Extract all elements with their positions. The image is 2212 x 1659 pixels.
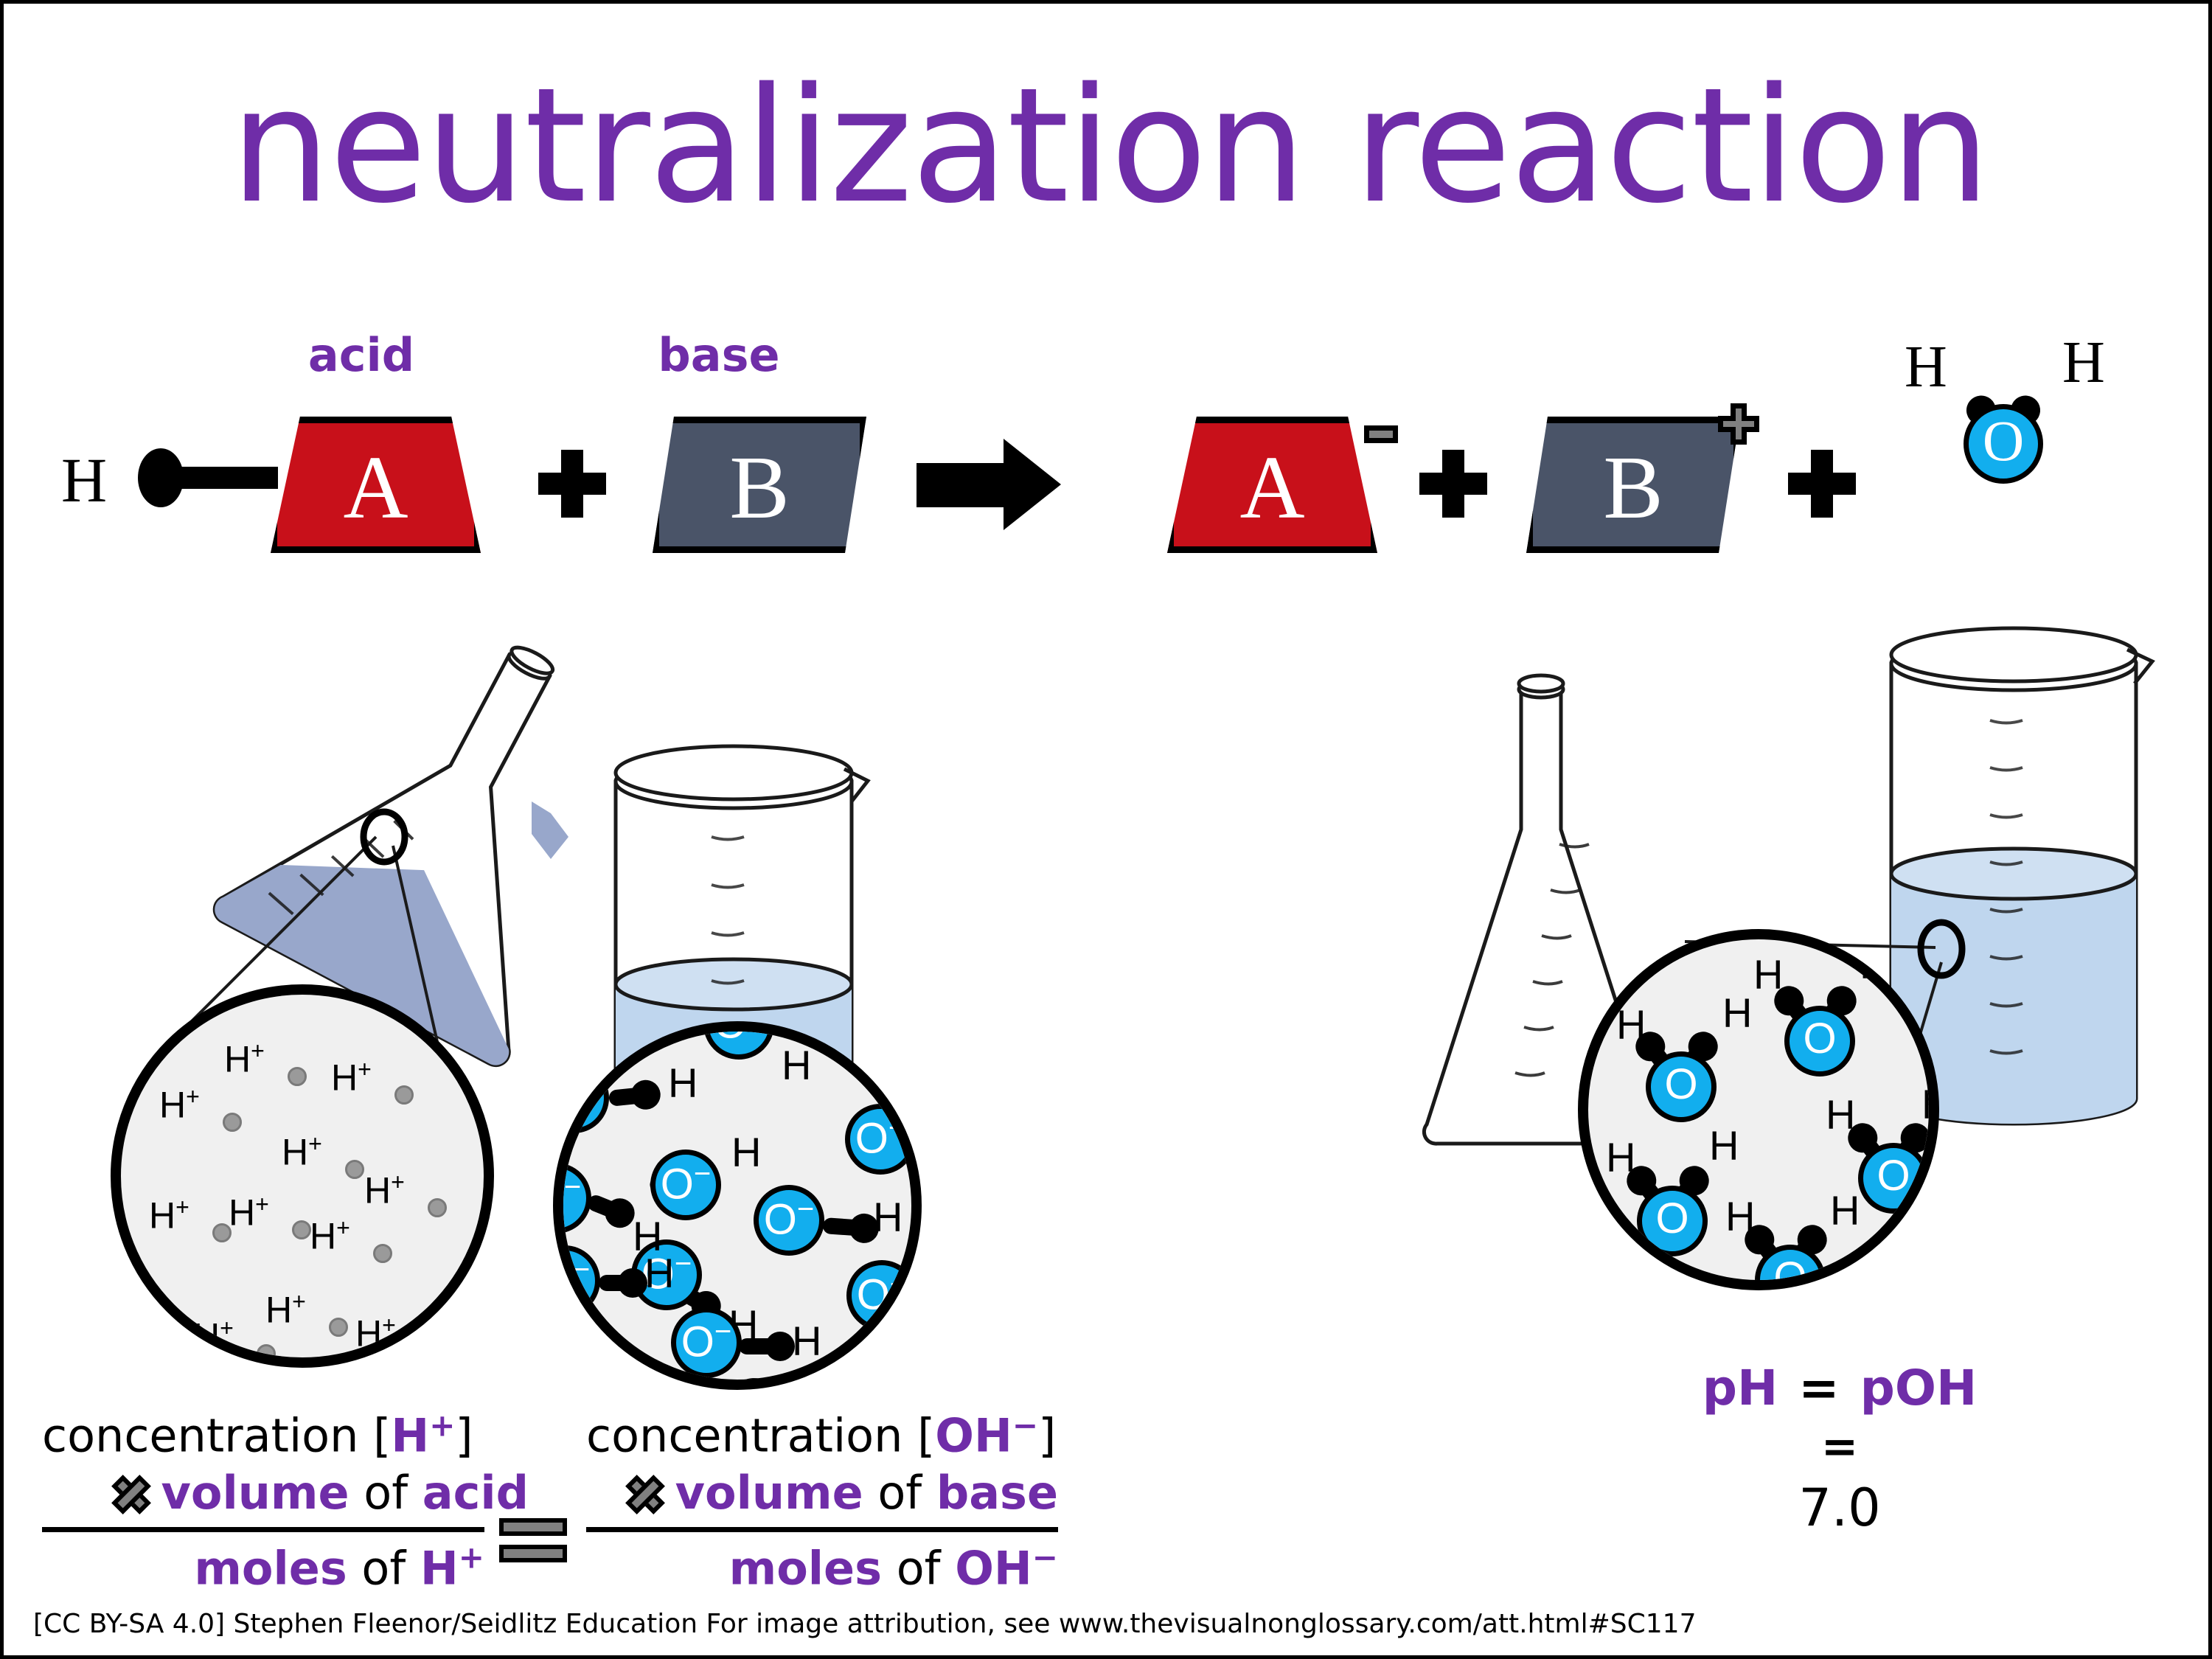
hydroxide-oxygen-partial: O− xyxy=(845,1104,916,1175)
magnified-acid-circle: H+H+H+H+H+H+H+H+H+H+H+H+H+H+H+H+ xyxy=(111,984,494,1368)
plus-operator-3 xyxy=(1788,450,1856,518)
hydrogen-ion-label: H+ xyxy=(193,1316,234,1355)
water-hydrogen: H xyxy=(1722,992,1752,1034)
hydrogen-ion-dot xyxy=(223,1113,242,1132)
ph-equality-line: pH=pOH xyxy=(1618,1364,2061,1413)
product-acid-symbol: A xyxy=(1239,443,1304,533)
hydroxide-oxygen-partial: O− xyxy=(553,1163,591,1234)
hydroxide-hydrogen: H xyxy=(644,1253,674,1294)
water-hydrogen-right-label: H xyxy=(2062,333,2105,392)
hydroxide-hydrogen: H xyxy=(782,1045,811,1086)
acid-formula-block: concentration [H+] volume of acid moles … xyxy=(42,1408,529,1593)
base-fraction-bar xyxy=(586,1527,1058,1532)
minus-charge-icon xyxy=(1364,425,1398,443)
right-beaker xyxy=(1891,628,2152,1124)
multiply-icon xyxy=(625,1475,665,1514)
hydrogen-ion-dot xyxy=(394,1085,414,1105)
water-molecule-equation: H H O xyxy=(1891,317,2112,501)
acid-concentration-line: concentration [H+] xyxy=(42,1408,529,1461)
reaction-arrow-icon xyxy=(917,439,1060,531)
water-hydrogen: H xyxy=(1753,954,1783,995)
multiply-icon xyxy=(111,1475,151,1514)
hydroxide-oxygen: O− xyxy=(671,1307,742,1378)
water-oxygen: O xyxy=(1858,1143,1929,1214)
hydroxide-hydrogen: H xyxy=(792,1321,821,1362)
hydrogen-ion-label: H+ xyxy=(229,1192,269,1231)
hydrogen-ion-label: H+ xyxy=(116,1307,157,1346)
oh-bond xyxy=(822,1217,872,1237)
base-shape: B xyxy=(653,417,866,553)
acid-label: acid xyxy=(265,328,457,382)
plus-operator-1 xyxy=(538,450,606,518)
water-hydrogen: H xyxy=(1606,1137,1635,1178)
hydroxide-oxygen: O− xyxy=(650,1150,721,1220)
water-hydrogen: H xyxy=(1826,1094,1855,1135)
hydrogen-ion-dot xyxy=(292,1220,311,1239)
equals-sign-icon xyxy=(499,1518,567,1564)
magnified-water-circle: O H H O H H O H H O H H O H H xyxy=(1578,929,1939,1290)
poster-canvas: neutralization reaction acid base H A B … xyxy=(0,0,2212,1659)
acid-symbol: A xyxy=(343,443,408,533)
hydrogen-ion-label: H+ xyxy=(224,1039,265,1078)
hydrogen-ion-label: H+ xyxy=(149,1195,189,1234)
hydrogen-ion-label: H+ xyxy=(310,1216,350,1255)
base-moles-line: moles of OH− xyxy=(586,1541,1058,1594)
water-hydrogen: H xyxy=(1616,1004,1646,1046)
oh-bond xyxy=(739,1338,787,1354)
acid-shape: A xyxy=(271,417,481,553)
water-oxygen-circle: O xyxy=(1964,404,2043,484)
equals-1: = xyxy=(1778,1360,1860,1416)
hydrogen-ion-dot xyxy=(345,1160,364,1179)
base-concentration-line: concentration [OH−] xyxy=(586,1408,1088,1461)
ph-result-block: pH=pOH = 7.0 xyxy=(1618,1364,2061,1534)
product-base-shape: B xyxy=(1526,417,1740,553)
acid-fraction-bar xyxy=(42,1527,484,1532)
ph-label: pH xyxy=(1703,1360,1778,1416)
water-oxygen: O xyxy=(1637,1186,1708,1256)
hydrogen-ion-dot xyxy=(257,1344,276,1363)
oh-bond xyxy=(608,1086,654,1107)
hydrogen-ion-label: H+ xyxy=(159,1085,200,1124)
water-hydrogen: H xyxy=(1725,1196,1755,1237)
base-label: base xyxy=(623,328,815,382)
equals-2: = xyxy=(1618,1425,2061,1469)
acid-volume-line: volume of acid xyxy=(42,1469,529,1518)
hydrogen-ion-dot xyxy=(329,1318,348,1337)
page-title: neutralization reaction xyxy=(4,66,2212,225)
hydroxide-oxygen-partial: O− xyxy=(703,1021,774,1060)
hydrogen-ion-label: H+ xyxy=(364,1170,405,1209)
water-hydrogen: H xyxy=(1860,944,1889,985)
water-hydrogen: H xyxy=(1830,1190,1860,1231)
base-formula-block: concentration [OH−] volume of base moles… xyxy=(586,1408,1088,1593)
magnified-base-circle: O− H O− H O− H O− H O− H O− O− O− H O− H… xyxy=(553,1021,922,1390)
ph-value: 7.0 xyxy=(1618,1482,2061,1534)
oh-bond xyxy=(599,1275,640,1291)
base-volume-line: volume of base xyxy=(586,1469,1058,1518)
water-hydrogen-left-label: H xyxy=(1905,338,1947,397)
water-hydrogen: H xyxy=(1921,1084,1939,1125)
hydrogen-ion-label: H+ xyxy=(282,1132,322,1171)
reactant-hydrogen-label: H xyxy=(61,448,107,512)
hydrogen-ion-dot xyxy=(288,1067,307,1086)
hydrogen-ion-dot xyxy=(373,1244,392,1263)
attribution-footer: [CC BY-SA 4.0] Stephen Fleenor/Seidlitz … xyxy=(33,1609,1696,1639)
water-oxygen: O xyxy=(1784,1006,1855,1077)
acid-moles-line: moles of H+ xyxy=(42,1541,484,1594)
hydroxide-hydrogen: H xyxy=(668,1062,698,1104)
plus-operator-2 xyxy=(1419,450,1487,518)
base-symbol: B xyxy=(729,443,789,533)
hydrogen-ion-label: H+ xyxy=(331,1057,372,1096)
chemical-equation: acid base H A B A B xyxy=(4,335,2212,586)
hydrogen-ion-label: H+ xyxy=(265,1290,306,1329)
hydroxide-hydrogen: H xyxy=(873,1197,902,1238)
water-oxygen: O xyxy=(1646,1051,1717,1122)
product-base-symbol: B xyxy=(1603,443,1663,533)
product-acid-shape: A xyxy=(1167,417,1377,553)
hydroxide-oxygen: O− xyxy=(754,1185,824,1256)
poh-label: pOH xyxy=(1860,1360,1978,1416)
hydrogen-ion-label: H+ xyxy=(355,1313,396,1352)
water-oxygen-label: O xyxy=(1983,412,2024,470)
hydrogen-ion-dot xyxy=(428,1198,447,1217)
bond-line xyxy=(167,467,278,489)
plus-charge-icon xyxy=(1718,403,1759,445)
oh-bond xyxy=(585,1193,630,1223)
hydroxide-oxygen-partial: O− xyxy=(846,1260,917,1331)
water-hydrogen: H xyxy=(1709,1125,1739,1166)
hydroxide-hydrogen: H xyxy=(731,1132,761,1173)
